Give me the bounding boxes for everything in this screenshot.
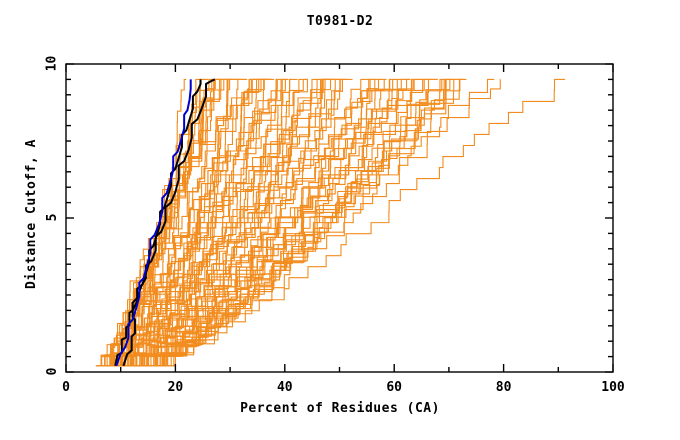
x-tick-label: 0 xyxy=(62,380,70,395)
y-tick-label: 10 xyxy=(45,55,60,73)
x-tick-label: 100 xyxy=(601,380,624,395)
y-axis-label: Distance Cutoff, A xyxy=(24,94,39,334)
x-tick-label: 40 xyxy=(277,380,293,395)
y-axis-label-wrap: Distance Cutoff, A xyxy=(24,94,44,334)
x-tick-label: 20 xyxy=(168,380,184,395)
x-axis-label: Percent of Residues (CA) xyxy=(0,401,680,416)
chart-root: T0981-D2 Percent of Residues (CA) Distan… xyxy=(0,0,680,440)
y-tick-label: 5 xyxy=(45,213,60,222)
series-layer xyxy=(96,79,565,365)
plot-canvas xyxy=(0,0,680,440)
x-tick-label: 60 xyxy=(386,380,402,395)
y-tick-label: 0 xyxy=(45,367,60,376)
x-tick-label: 80 xyxy=(496,380,512,395)
